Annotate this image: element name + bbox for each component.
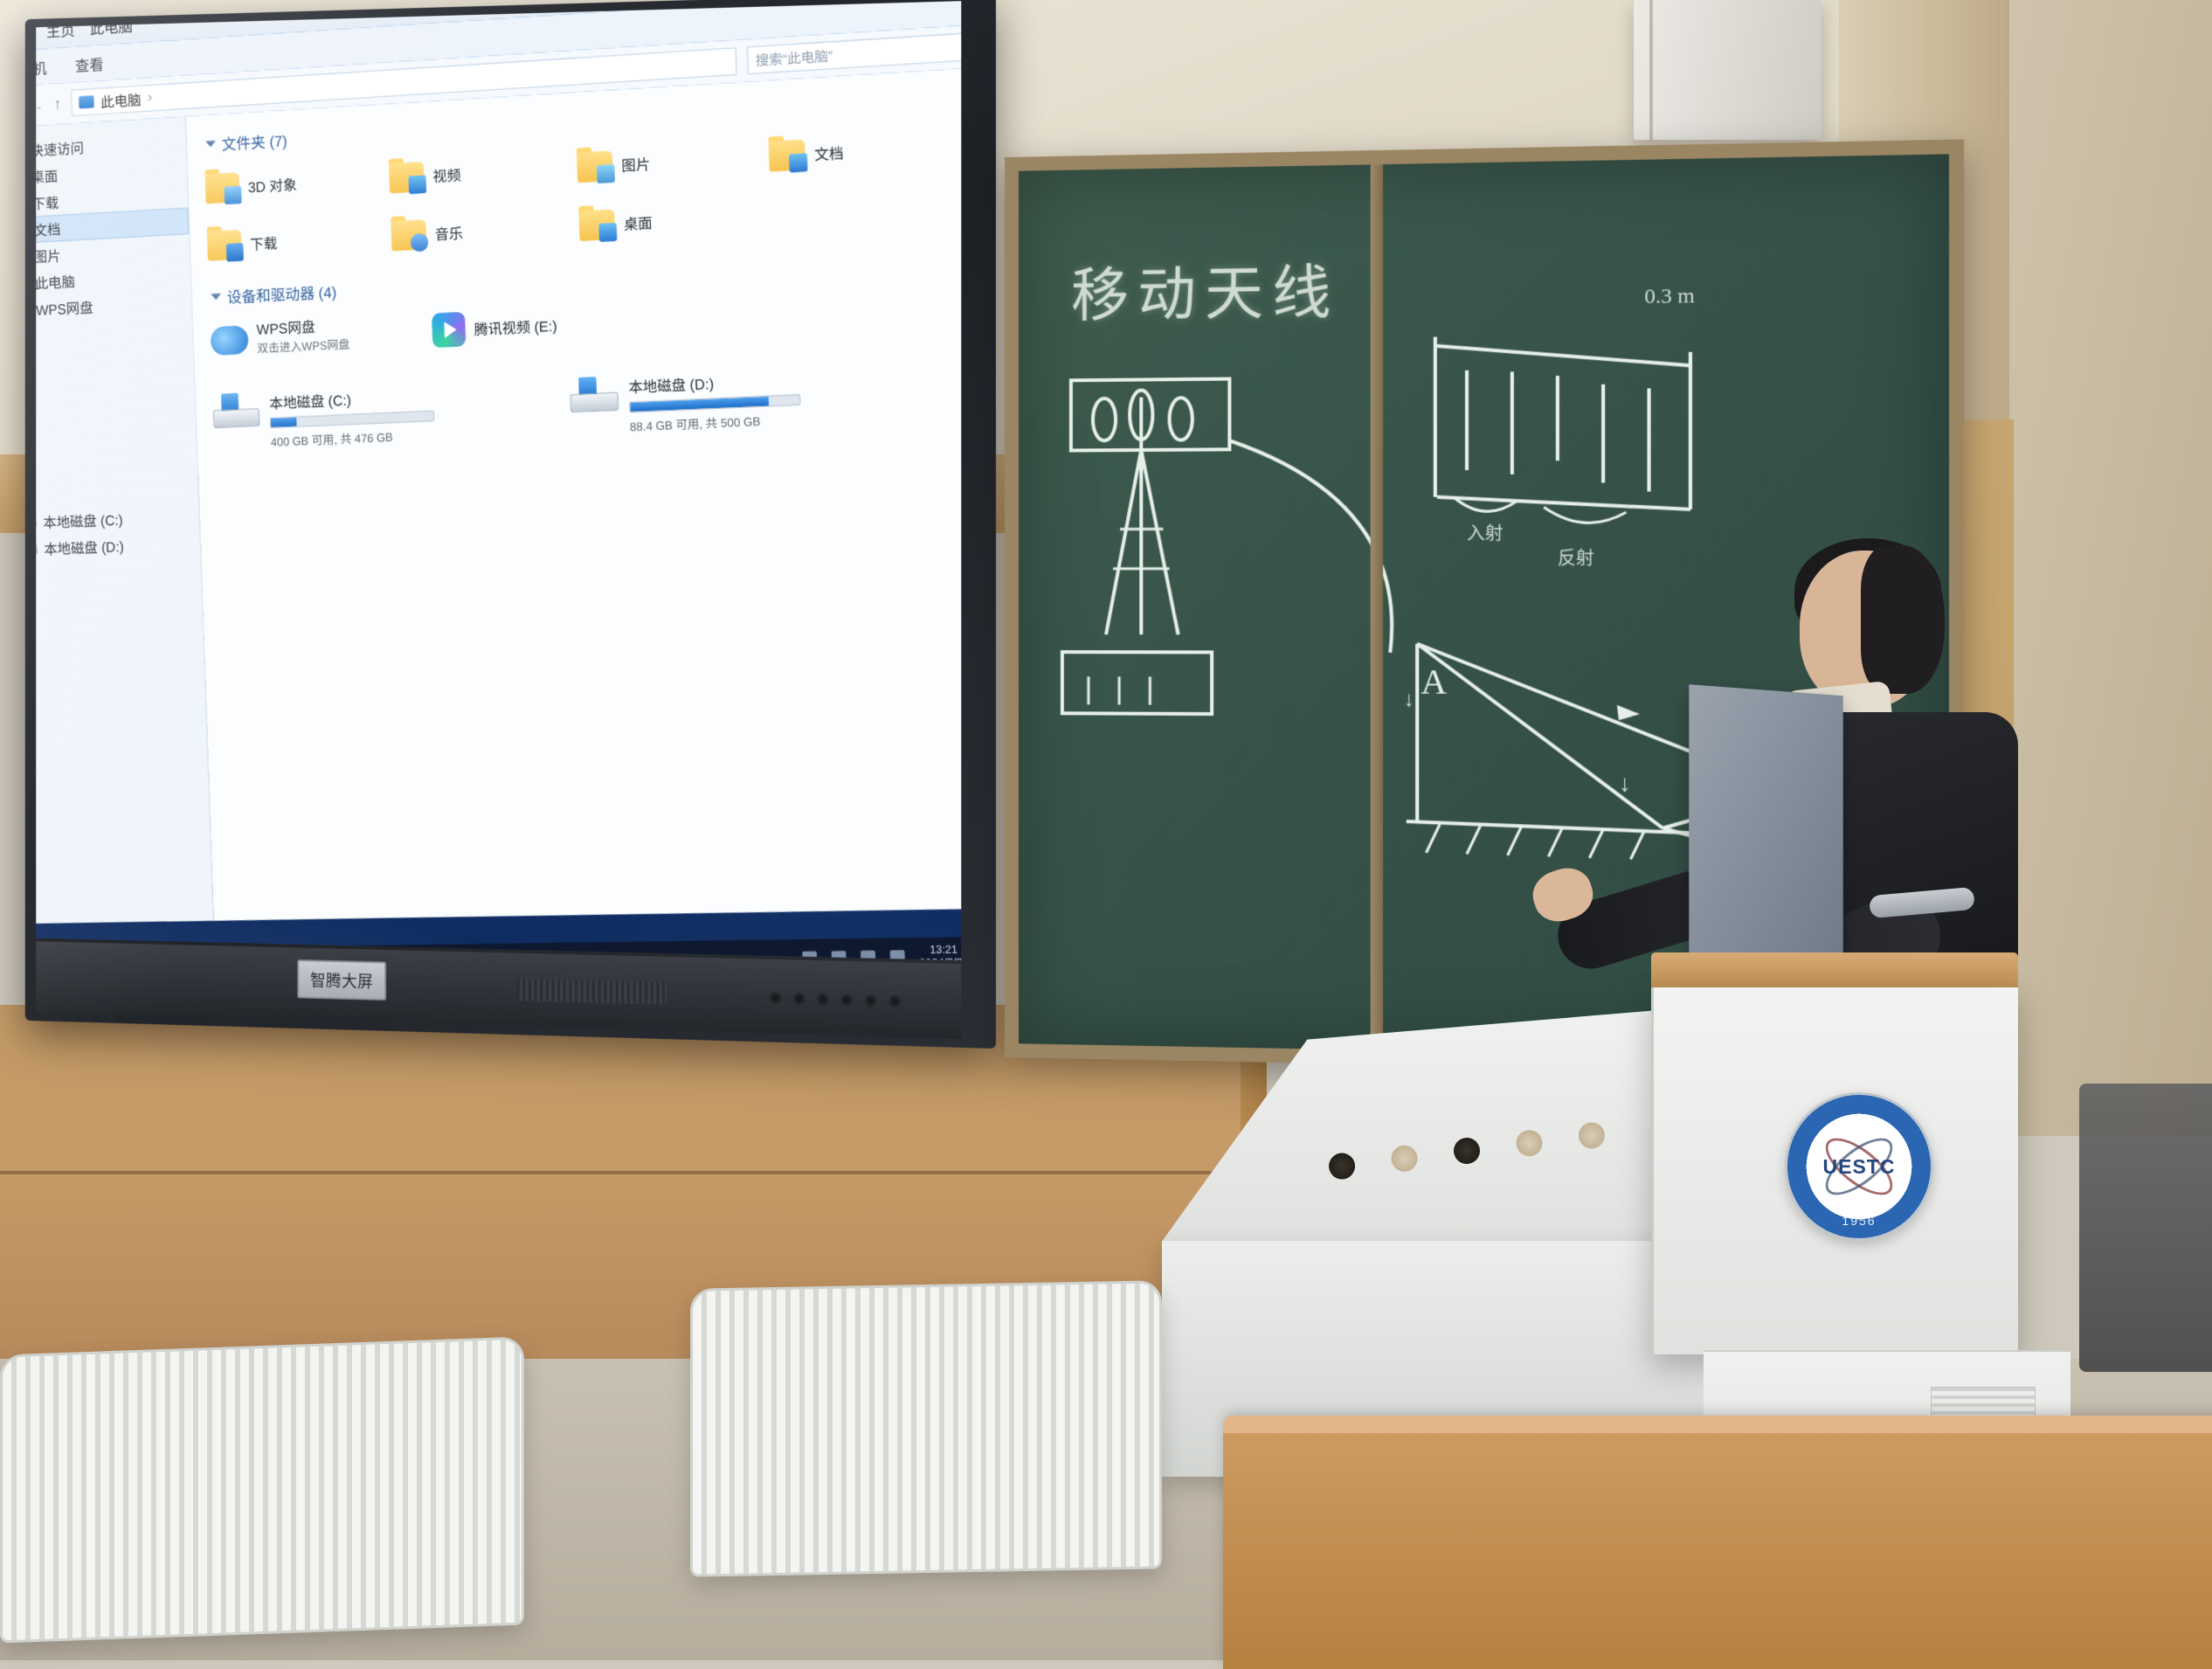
nav-item-drive-d[interactable]: 本地磁盘 (D:) <box>36 529 200 562</box>
tile-sublabel: 双击进入WPS网盘 <box>257 336 350 357</box>
drive-tile[interactable]: 本地磁盘 (C:) 400 GB 可用, 共 476 GB <box>212 377 571 458</box>
podium-port-row[interactable] <box>1327 1121 1606 1181</box>
capacity-text: 400 GB 可用, 共 476 GB <box>270 426 435 450</box>
chalk-array-dimension: 0.3 m <box>1644 285 1695 309</box>
taskbar-clock[interactable]: 13:21 2024/3/21 <box>919 944 962 960</box>
panel-port-row[interactable] <box>770 992 901 1008</box>
nav-label: 本地磁盘 (C:) <box>43 508 123 532</box>
nav-label: 本地磁盘 (D:) <box>44 535 124 559</box>
chalk-diagram-array <box>1417 315 1848 586</box>
logo-inner: UESTC <box>1810 1118 1908 1215</box>
wps-cloud-icon <box>211 325 249 356</box>
desk-table <box>1223 1416 2212 1669</box>
drive-icon <box>36 544 38 555</box>
desk-table-edge <box>1223 1416 2212 1433</box>
windows-desktop[interactable]: 校园服务电话 61830024(信息中心服务台)、61830024(校园大服务)… <box>36 1 961 960</box>
port-icon <box>841 994 854 1006</box>
chalk-sublabel-1: 入射 <box>1467 519 1503 545</box>
panel-brand-label: 智腾大屏 <box>297 959 386 1001</box>
tile-label: 本地磁盘 (C:) <box>269 384 434 413</box>
folder-tile[interactable]: 下载 <box>206 211 392 270</box>
nav-label: 桌面 <box>36 164 58 187</box>
port-icon <box>1390 1144 1419 1173</box>
tab-computer[interactable]: 计算机 <box>36 55 47 80</box>
panel-screen[interactable]: 校园服务电话 61830024(信息中心服务台)、61830024(校园大服务)… <box>36 1 961 960</box>
nav-label: 图片 <box>36 244 61 267</box>
group-label: 设备和驱动器 (4) <box>226 280 336 308</box>
chair <box>690 1280 1162 1664</box>
device-tile-grid: WPS网盘 双击进入WPS网盘 腾讯视频 (E:) <box>210 280 961 459</box>
classroom-scene: 校园服务电话 61830024(信息中心服务台)、61830024(校园大服务)… <box>0 0 2212 1660</box>
tencent-video-icon <box>432 312 466 348</box>
tile-label: 音乐 <box>434 221 463 245</box>
folder-pictures-icon <box>577 150 613 183</box>
folder-downloads-icon <box>207 229 242 260</box>
folder-tile[interactable]: 文档 <box>768 120 961 181</box>
folder-tile[interactable]: 3D 对象 <box>204 154 390 213</box>
folder-3d-objects-icon <box>204 172 239 204</box>
svg-text:A: A <box>1421 661 1447 702</box>
tile-label: 本地磁盘 (D:) <box>628 367 800 397</box>
port-icon <box>1577 1121 1606 1150</box>
tile-label: 文档 <box>814 141 844 164</box>
folder-tile[interactable]: 视频 <box>389 142 578 202</box>
tile-label: 腾讯视频 (E:) <box>474 314 557 340</box>
chevron-down-icon[interactable] <box>211 294 221 301</box>
folder-desktop-icon <box>578 209 615 241</box>
capacity-bar <box>270 411 435 429</box>
podium-front-panel: UESTC 1956 <box>1651 987 2018 1354</box>
chevron-down-icon[interactable] <box>205 141 216 148</box>
instructor-hair-back <box>1861 545 1945 694</box>
drive-icon <box>36 516 37 528</box>
port-icon <box>888 995 901 1008</box>
chair <box>0 1337 524 1669</box>
tile-label: 视频 <box>432 163 461 187</box>
chalk-sublabel-2: 反射 <box>1558 544 1594 570</box>
university-logo: UESTC 1956 <box>1785 1092 1933 1241</box>
nav-label: 下载 <box>36 190 59 213</box>
tile-label: 图片 <box>621 152 651 176</box>
explorer-body: 快速访问 桌面 下载 文档 <box>36 67 961 924</box>
this-pc-icon <box>79 95 94 108</box>
explorer-content-pane[interactable]: 文件夹 (7) 3D 对象 视频 <box>186 67 962 921</box>
nav-label: 此电脑 <box>36 270 75 294</box>
port-icon <box>1327 1152 1356 1181</box>
tencent-video-tile[interactable]: 腾讯视频 (E:) <box>431 294 660 355</box>
tile-label: 桌面 <box>623 211 653 234</box>
nav-label: WPS网盘 <box>36 295 93 320</box>
group-label: 文件夹 (7) <box>221 128 287 155</box>
search-input[interactable]: 搜索“此电脑” <box>747 33 961 75</box>
chevron-right-icon: › <box>148 90 153 107</box>
capacity-text: 88.4 GB 可用, 共 500 GB <box>630 410 802 434</box>
navigation-pane[interactable]: 快速访问 桌面 下载 文档 <box>36 116 214 924</box>
drive-tile[interactable]: 本地磁盘 (D:) 88.4 GB 可用, 共 500 GB <box>570 361 944 444</box>
drive-d-icon <box>570 376 619 412</box>
wps-cloud-tile[interactable]: WPS网盘 双击进入WPS网盘 <box>210 306 432 365</box>
forward-icon[interactable]: → <box>36 95 44 114</box>
port-icon <box>770 992 782 1004</box>
tab-view[interactable]: 查看 <box>74 52 104 76</box>
podium-monitor[interactable] <box>1689 684 1842 985</box>
port-icon <box>865 994 877 1007</box>
tile-label: 下载 <box>250 232 278 254</box>
chalk-heading: 移动天线 <box>1071 245 1340 333</box>
folder-tile[interactable]: 桌面 <box>578 190 772 251</box>
folder-tile[interactable]: 图片 <box>577 131 771 191</box>
chair-backrest <box>0 1337 524 1644</box>
logo-founding-year: 1956 <box>1842 1214 1876 1228</box>
nav-label: 快速访问 <box>36 136 84 161</box>
far-chair <box>2079 1084 2212 1372</box>
port-icon <box>817 994 829 1006</box>
address-value: 此电脑 <box>100 88 142 112</box>
interactive-flat-panel[interactable]: 校园服务电话 61830024(信息中心服务台)、61830024(校园大服务)… <box>25 0 996 1049</box>
folder-tile[interactable]: 音乐 <box>391 201 580 260</box>
folder-videos-icon <box>389 161 425 192</box>
chair-backrest <box>690 1280 1162 1576</box>
up-icon[interactable]: ↑ <box>53 94 61 114</box>
drive-c-icon <box>212 392 259 428</box>
panel-speaker-grille <box>517 979 667 1005</box>
wall-speaker <box>1634 0 1821 140</box>
port-icon <box>1452 1136 1481 1165</box>
nav-label: 文档 <box>36 218 60 240</box>
port-icon <box>793 993 805 1005</box>
folder-documents-icon <box>769 139 806 171</box>
blackboard-sash-divider[interactable] <box>1371 164 1383 1050</box>
logo-abbreviation: UESTC <box>1823 1155 1896 1179</box>
port-icon <box>1515 1129 1544 1158</box>
tile-label: 3D 对象 <box>247 173 297 197</box>
folder-music-icon <box>391 219 426 251</box>
capacity-bar <box>629 394 800 412</box>
